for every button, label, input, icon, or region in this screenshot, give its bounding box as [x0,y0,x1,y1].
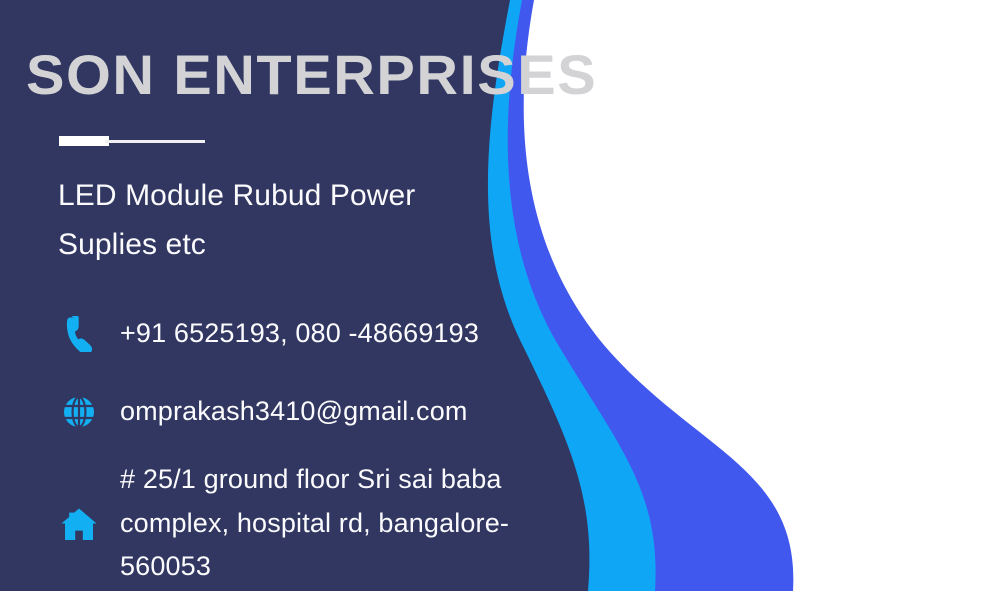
home-icon [56,501,102,547]
globe-icon [56,389,102,435]
title-divider [59,136,205,146]
contact-row-address[interactable]: # 25/1 ground floor Sri sai baba complex… [56,458,556,589]
phone-number: +91 6525193, 080 -48669193 [102,312,479,356]
card-content: SON ENTERPRISES LED Module Rubud Power S… [0,0,560,591]
company-name: SON ENTERPRISES [26,47,597,103]
divider-thick-segment [59,136,109,146]
company-tagline: LED Module Rubud Power Suplies etc [58,172,510,270]
email-address: omprakash3410@gmail.com [102,390,468,434]
contact-row-email[interactable]: omprakash3410@gmail.com [56,384,556,440]
phone-icon [56,311,102,357]
business-card: SON ENTERPRISES LED Module Rubud Power S… [0,0,1004,591]
contact-row-phone[interactable]: +91 6525193, 080 -48669193 [56,306,556,362]
postal-address: # 25/1 ground floor Sri sai baba complex… [102,458,550,589]
contact-list: +91 6525193, 080 -48669193 ompr [56,306,556,589]
divider-thin-segment [105,140,205,143]
